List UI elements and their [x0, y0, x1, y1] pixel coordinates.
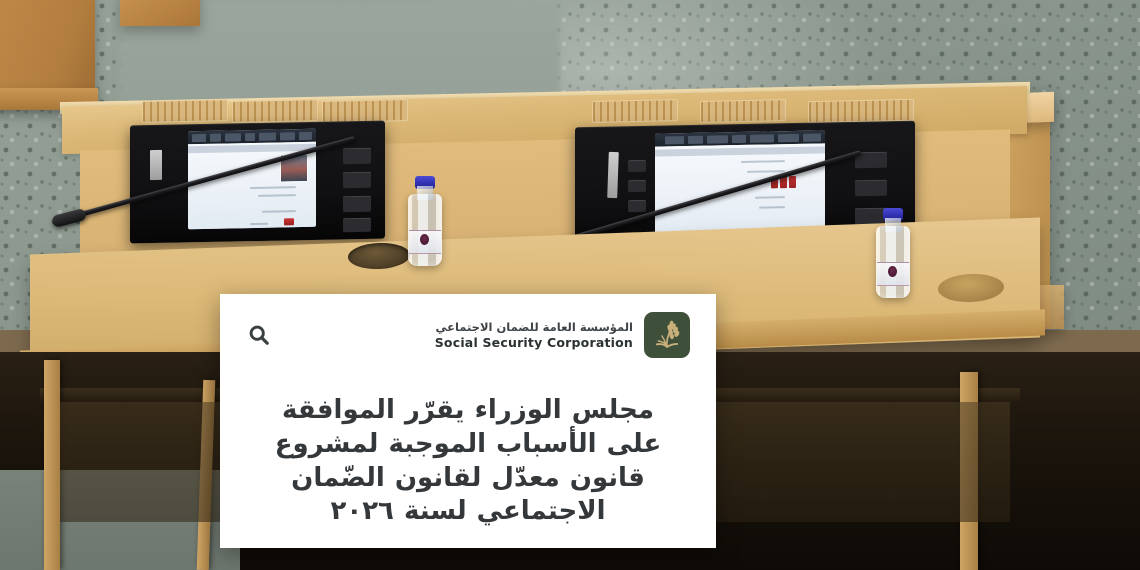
screen-tab[interactable] [707, 135, 728, 143]
right-console-button-a1[interactable] [628, 160, 646, 172]
desk-leg-left [44, 360, 60, 570]
screen-text-line [741, 160, 785, 163]
left-console-button-4[interactable] [343, 218, 371, 232]
left-console-button-2[interactable] [343, 172, 371, 188]
screen-text-line [759, 206, 785, 208]
vent-grille-5 [700, 99, 786, 123]
screen-tab[interactable] [280, 132, 295, 140]
vent-grille-4 [592, 99, 678, 123]
screen-tab[interactable] [210, 133, 221, 141]
screen-tab[interactable] [750, 134, 774, 142]
screen-tab[interactable] [665, 136, 684, 144]
screen-text-line [262, 210, 296, 213]
screen-tab[interactable] [778, 133, 799, 141]
vent-grille-6 [808, 99, 914, 123]
bottle-label-mark [888, 266, 897, 277]
screen-tab[interactable] [192, 133, 206, 141]
headline-text: مجلس الوزراء يقرّر الموافقة على الأسباب … [220, 394, 716, 529]
screen-titlebar [655, 146, 825, 156]
screen-text-line [250, 186, 296, 189]
brand-name-arabic: المؤسسة العامة للضمان الاجتماعي [435, 320, 633, 334]
right-console-card-slot[interactable] [607, 152, 619, 198]
screen-chart-bar [284, 218, 294, 225]
bottle-label-mark [420, 234, 429, 245]
screen-tab[interactable] [299, 131, 312, 139]
screen-text-line [747, 170, 785, 173]
vent-grille-3 [322, 99, 408, 123]
search-icon[interactable] [246, 322, 272, 348]
screen-indicator [789, 176, 796, 188]
screen-tab[interactable] [732, 134, 746, 142]
vent-grille-2 [232, 99, 318, 123]
brand-text: المؤسسة العامة للضمان الاجتماعي Social S… [435, 320, 633, 351]
right-console-button-a2[interactable] [628, 180, 646, 192]
screen-tab[interactable] [688, 135, 703, 143]
screenshot-stage: المؤسسة العامة للضمان الاجتماعي Social S… [0, 0, 1140, 570]
screen-tab[interactable] [225, 133, 241, 141]
right-console-button-b2[interactable] [855, 180, 887, 197]
brand-lockup[interactable]: المؤسسة العامة للضمان الاجتماعي Social S… [435, 312, 690, 358]
background-desk-mid [120, 0, 200, 26]
wheat-stalk-logo-icon [644, 312, 690, 358]
vent-grille-1 [142, 99, 228, 123]
screen-tab[interactable] [259, 132, 277, 140]
card-header: المؤسسة العامة للضمان الاجتماعي Social S… [220, 294, 716, 358]
brand-name-english: Social Security Corporation [435, 335, 633, 351]
left-console-card-slot[interactable] [150, 150, 162, 180]
screen-text-line [755, 196, 785, 199]
right-console-button-a3[interactable] [628, 200, 646, 212]
background-desk-left [0, 0, 95, 102]
left-console-button-1[interactable] [343, 148, 371, 164]
screen-tab[interactable] [803, 133, 821, 141]
screen-tab[interactable] [245, 132, 255, 140]
left-console-button-3[interactable] [343, 196, 371, 212]
news-info-card: المؤسسة العامة للضمان الاجتماعي Social S… [220, 294, 716, 548]
screen-text-line [250, 223, 268, 225]
screen-text-line [258, 194, 296, 197]
